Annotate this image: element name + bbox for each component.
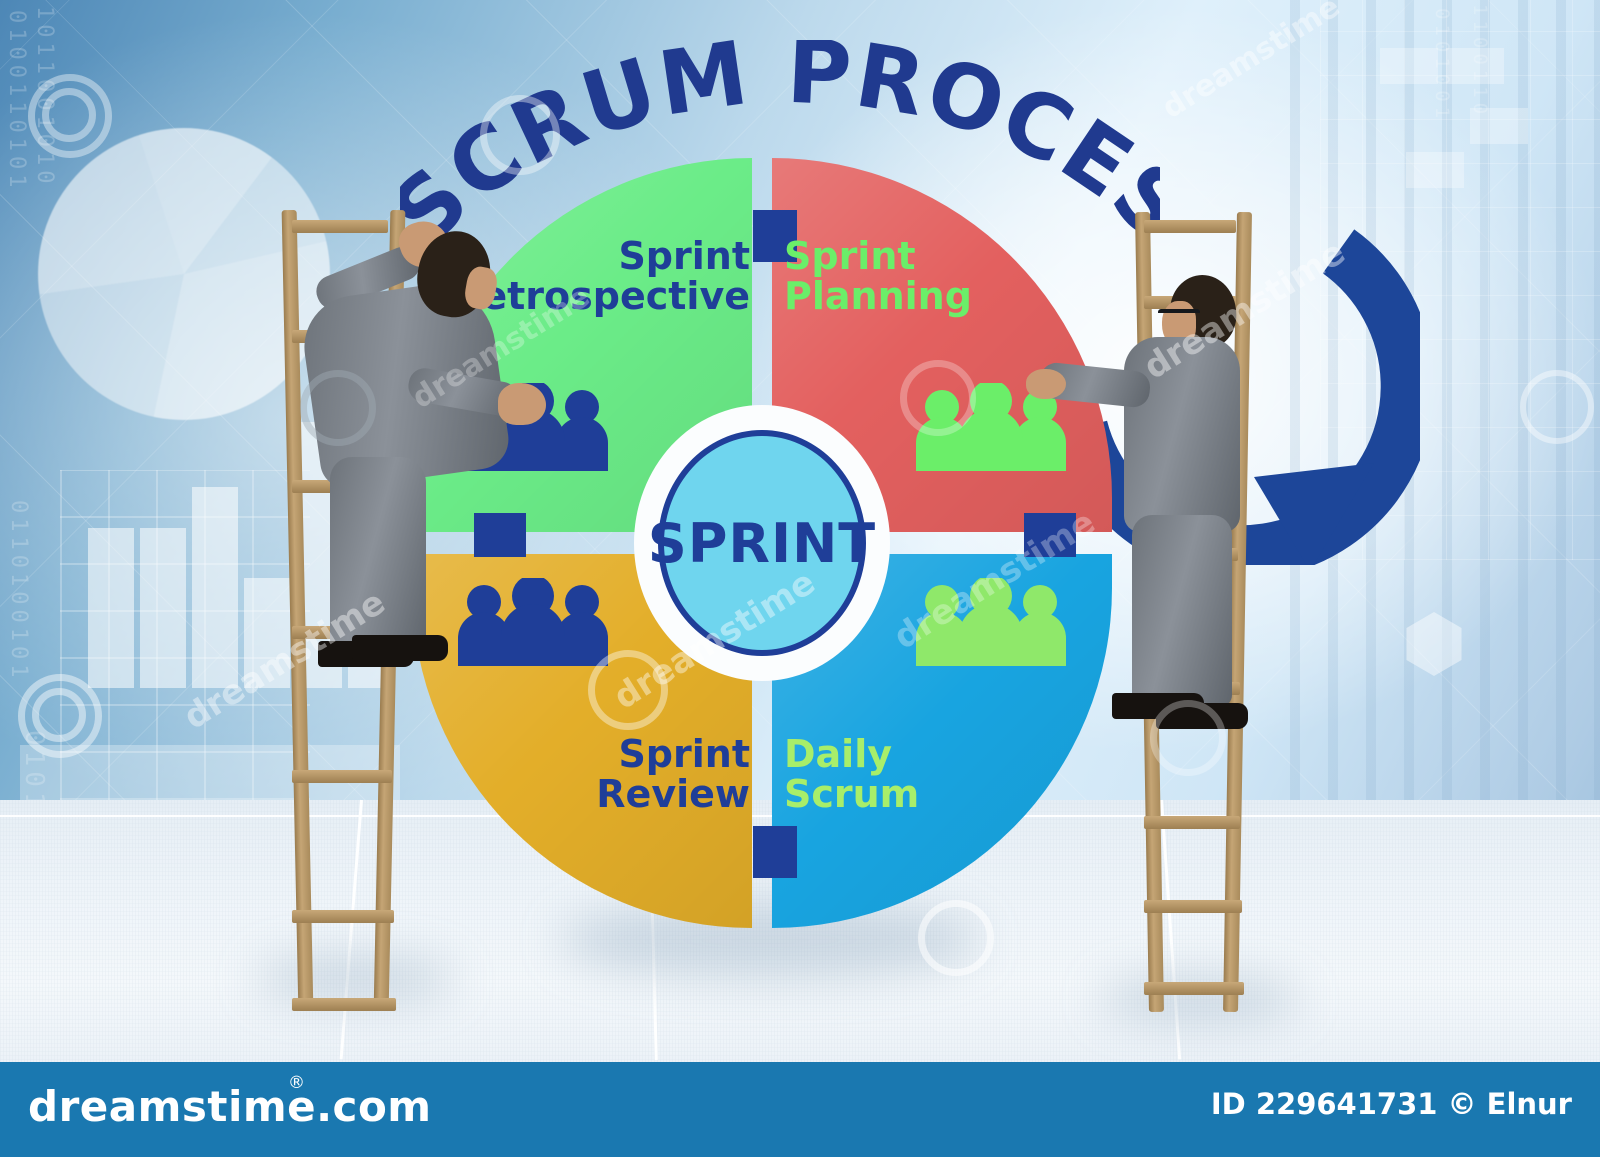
background-binary-digits: 1100110 [1470,4,1490,119]
label-line-1: Sprint [784,236,1114,276]
label-line-1: Daily [784,734,1114,774]
background-bar [192,487,238,688]
suit-legs [1132,515,1232,707]
ladder-rung [1144,900,1242,913]
background-bar-block [1406,152,1464,188]
hub-label: SPRINT [648,512,876,575]
background-binary-digits: 1011001010 [34,6,54,188]
sprint-hub[interactable]: SPRINT [658,430,866,656]
hand-lower [498,383,546,425]
shoe [1156,703,1248,729]
ladder-rung [1144,816,1240,829]
background-bar-block [1380,48,1438,84]
label-line-1: Sprint [420,734,750,774]
registered-mark-icon: ® [288,1073,305,1093]
businessman-right [1040,275,1270,735]
ladder-rung [292,770,392,783]
label-line-2: Review [420,774,750,814]
label-line-2: Scrum [784,774,1114,814]
background-bar [140,528,186,688]
hand-pointing [1026,369,1066,399]
screenshot-canvas: 0100110101 1011001010 0110100101 010110 … [0,0,1600,1157]
suit-torso [1124,337,1240,532]
ladder-rung [1144,220,1236,233]
background-binary-digits: 0101001 [1432,8,1452,123]
connector-bottom [753,826,797,878]
background-bar [88,528,134,688]
suit-legs [330,457,426,651]
ladder-rung [292,910,394,923]
shoe [352,635,448,661]
image-credit: ID 229641731 © Elnur [1211,1087,1572,1121]
dreamstime-logo-text: dreamstime.com [28,1082,432,1131]
ladder-rung [292,998,396,1011]
background-binary-digits: 0100110101 [6,10,26,192]
background-binary-digits: 0110100101 [8,500,28,682]
label-daily-scrum: Daily Scrum [784,734,1114,815]
ladder-rung [1144,982,1244,995]
businessman-left [280,205,560,675]
label-sprint-review: Sprint Review [420,734,750,815]
glasses-icon [1158,309,1200,323]
